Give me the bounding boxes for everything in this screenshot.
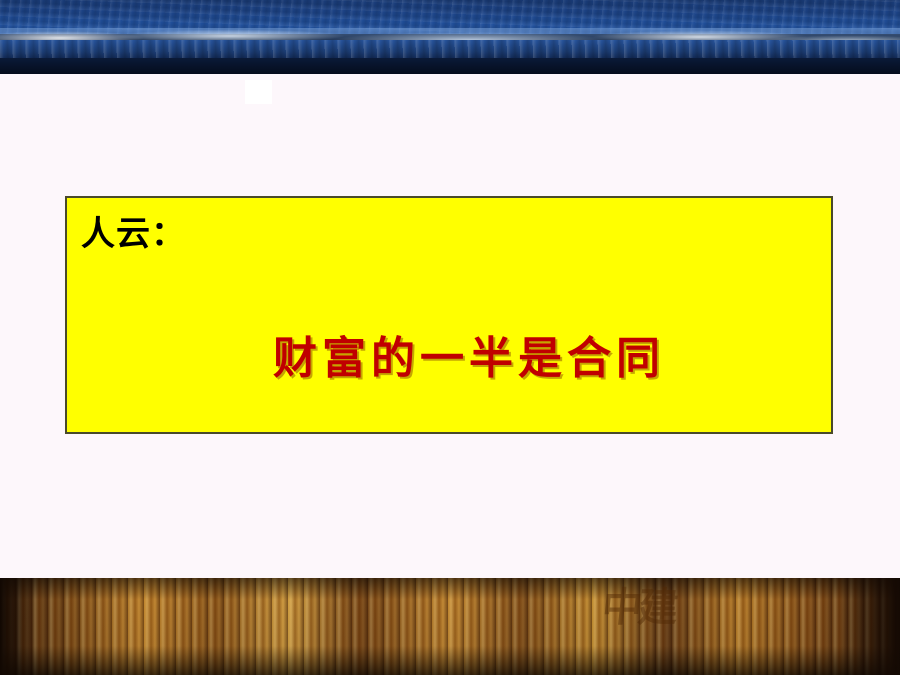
footer-band: 中建 中建国际建设公司 CHINA STATE CONSTRUCTION INT… bbox=[0, 578, 900, 675]
band-left-shadow bbox=[0, 578, 34, 675]
ocean-shadow-edge bbox=[0, 58, 900, 74]
quote-lead-text: 人云： bbox=[81, 206, 186, 255]
blank-placeholder-square bbox=[245, 80, 272, 104]
presentation-slide: 人云： 财富的一半是合同 中建 中建国际建设公司 CHIN bbox=[0, 0, 900, 675]
quote-main-text: 财富的一半是合同 bbox=[67, 322, 831, 386]
ocean-banner-image bbox=[0, 0, 900, 74]
band-right-shadow bbox=[840, 578, 900, 675]
band-shading-overlay bbox=[0, 578, 900, 675]
band-watermark-text: 中建 bbox=[596, 588, 724, 668]
quote-box: 人云： 财富的一半是合同 bbox=[65, 196, 833, 434]
